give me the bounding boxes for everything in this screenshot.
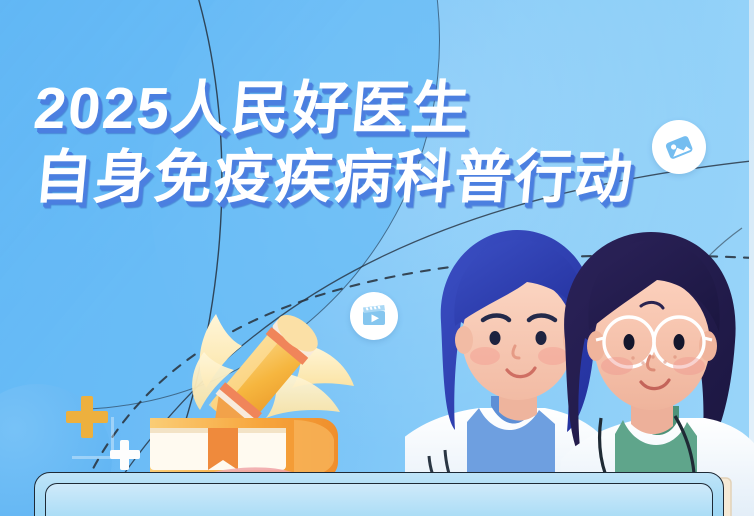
desk-bar-inner (45, 483, 713, 516)
desk-bar (34, 472, 724, 516)
plus-mark-white (110, 440, 140, 470)
plus-mark-orange (66, 396, 108, 438)
poster-canvas: 2025人民好医生 自身免疫疾病科普行动 (0, 0, 754, 516)
poster-title: 2025人民好医生 自身免疫疾病科普行动 (34, 78, 634, 209)
winged-pencil-and-book (150, 300, 380, 500)
title-line-1: 2025人民好医生 (31, 78, 636, 139)
title-line-2: 自身免疫疾病科普行动 (31, 147, 636, 208)
film-clapper-play-icon[interactable] (350, 292, 398, 340)
image-icon[interactable] (652, 120, 706, 174)
doctors-illustration (405, 210, 754, 516)
